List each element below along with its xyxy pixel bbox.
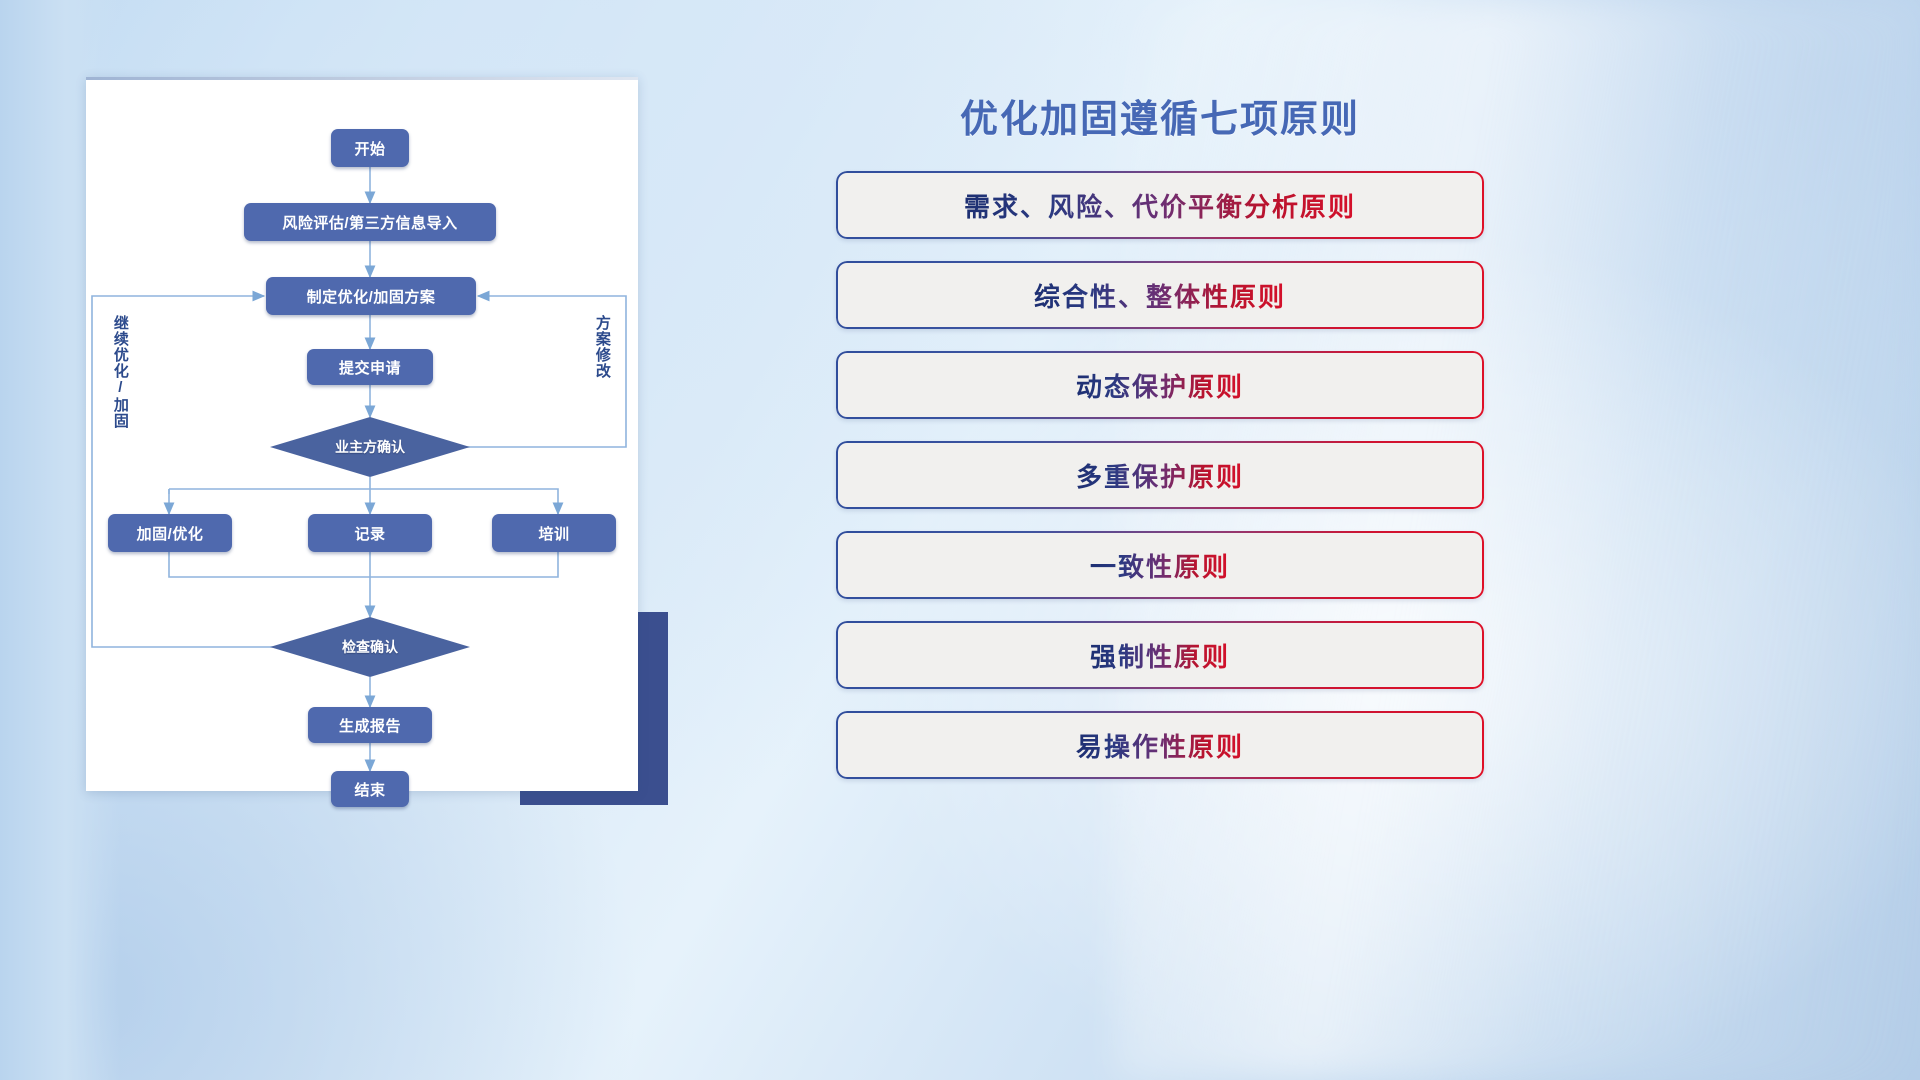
flow-node-generate-report[interactable]: 生成报告 xyxy=(308,707,432,743)
principle-card-6[interactable]: 强制性原则 xyxy=(836,621,1484,689)
flow-node-label: 业主方确认 xyxy=(335,437,405,457)
principle-card-1[interactable]: 需求、风险、代价平衡分析原则 xyxy=(836,171,1484,239)
flow-node-label: 提交申请 xyxy=(339,357,401,378)
principle-card-5[interactable]: 一致性原则 xyxy=(836,531,1484,599)
principle-card-3[interactable]: 动态保护原则 xyxy=(836,351,1484,419)
flow-node-label: 制定优化/加固方案 xyxy=(307,286,436,307)
flow-node-start[interactable]: 开始 xyxy=(331,129,409,167)
principle-label: 一致性原则 xyxy=(1090,547,1230,584)
principle-label: 综合性、整体性原则 xyxy=(1034,277,1286,314)
principles-panel: 优化加固遵循七项原则 需求、风险、代价平衡分析原则 综合性、整体性原则 动态保护… xyxy=(836,70,1484,801)
principle-label: 动态保护原则 xyxy=(1076,367,1244,404)
principle-card-4[interactable]: 多重保护原则 xyxy=(836,441,1484,509)
flow-edge-label-plan-revision: 方案修改 xyxy=(594,315,610,425)
flow-node-submit-application[interactable]: 提交申请 xyxy=(307,349,433,385)
flow-node-end[interactable]: 结束 xyxy=(331,771,409,807)
flow-node-record[interactable]: 记录 xyxy=(308,514,432,552)
flow-node-label: 检查确认 xyxy=(342,637,398,657)
principle-label: 多重保护原则 xyxy=(1076,457,1244,494)
flow-node-label: 结束 xyxy=(354,779,385,800)
flow-node-label: 加固/优化 xyxy=(137,523,204,544)
principle-label: 需求、风险、代价平衡分析原则 xyxy=(964,187,1356,224)
flow-edge-label-continue-optimize: 继续优化/加固 xyxy=(112,315,128,455)
flow-decision-inspection-confirm[interactable]: 检查确认 xyxy=(270,617,470,677)
flow-decision-owner-confirm[interactable]: 业主方确认 xyxy=(270,417,470,477)
flow-node-label: 培训 xyxy=(538,523,569,544)
flow-node-risk-assessment[interactable]: 风险评估/第三方信息导入 xyxy=(244,203,496,241)
flow-node-label: 生成报告 xyxy=(339,715,401,736)
flowchart-card: 开始 风险评估/第三方信息导入 制定优化/加固方案 提交申请 业主方确认 加固/… xyxy=(86,77,638,791)
flow-node-label: 开始 xyxy=(354,138,385,159)
flow-node-make-plan[interactable]: 制定优化/加固方案 xyxy=(266,277,476,315)
principle-card-2[interactable]: 综合性、整体性原则 xyxy=(836,261,1484,329)
flow-node-label: 风险评估/第三方信息导入 xyxy=(282,212,457,233)
flow-node-label: 记录 xyxy=(354,523,385,544)
flow-node-reinforce-optimize[interactable]: 加固/优化 xyxy=(108,514,232,552)
panel-title: 优化加固遵循七项原则 xyxy=(836,88,1484,143)
principle-label: 强制性原则 xyxy=(1090,637,1230,674)
principle-card-7[interactable]: 易操作性原则 xyxy=(836,711,1484,779)
flow-node-training[interactable]: 培训 xyxy=(492,514,616,552)
principle-label: 易操作性原则 xyxy=(1076,727,1244,764)
